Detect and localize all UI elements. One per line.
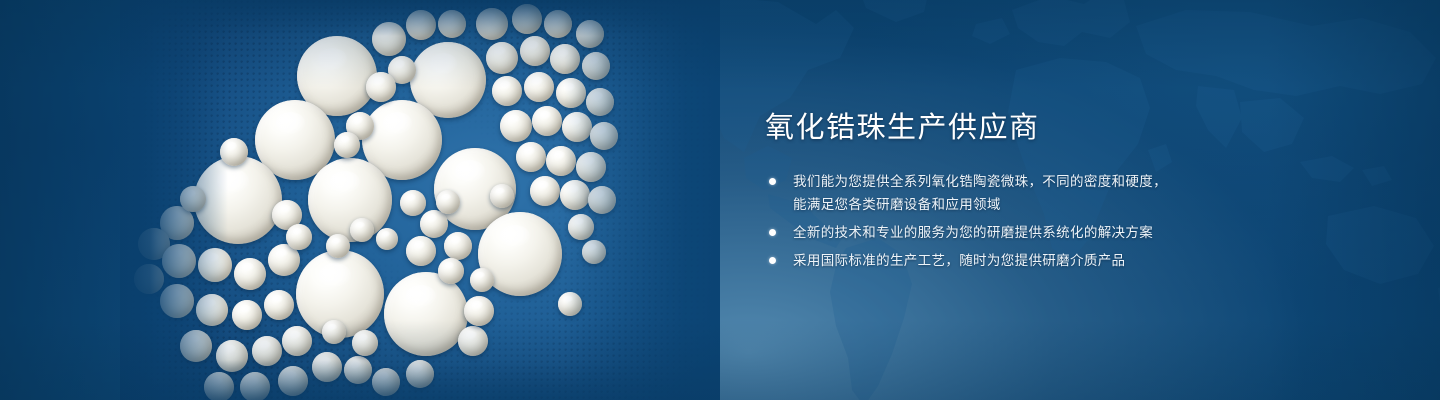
bullet-dot-icon xyxy=(769,178,776,185)
bullet-item-3: 采用国际标准的生产工艺，随时为您提供研磨介质产品 xyxy=(765,249,1205,272)
banner-bullet-list: 我们能为您提供全系列氧化锆陶瓷微珠，不同的密度和硬度， 能满足您各类研磨设备和应… xyxy=(765,170,1205,277)
banner-headline: 氧化锆珠生产供应商 xyxy=(765,110,1040,146)
bullet-item-2: 全新的技术和专业的服务为您的研磨提供系统化的解决方案 xyxy=(765,221,1205,244)
bullet-item-1: 我们能为您提供全系列氧化锆陶瓷微珠，不同的密度和硬度， 能满足您各类研磨设备和应… xyxy=(765,170,1205,216)
bullet-dot-icon xyxy=(769,257,776,264)
bullet-dot-icon xyxy=(769,229,776,236)
bullet-item-1-line2: 能满足您各类研磨设备和应用领域 xyxy=(793,193,1205,216)
bullet-item-2-line1: 全新的技术和专业的服务为您的研磨提供系统化的解决方案 xyxy=(793,225,1153,240)
bullet-item-3-line1: 采用国际标准的生产工艺，随时为您提供研磨介质产品 xyxy=(793,253,1125,268)
hero-banner: 氧化锆珠生产供应商 我们能为您提供全系列氧化锆陶瓷微珠，不同的密度和硬度， 能满… xyxy=(0,0,1440,400)
bullet-item-1-line1: 我们能为您提供全系列氧化锆陶瓷微珠，不同的密度和硬度， xyxy=(793,174,1167,189)
banner-text-column: 氧化锆珠生产供应商 我们能为您提供全系列氧化锆陶瓷微珠，不同的密度和硬度， 能满… xyxy=(765,0,1235,400)
